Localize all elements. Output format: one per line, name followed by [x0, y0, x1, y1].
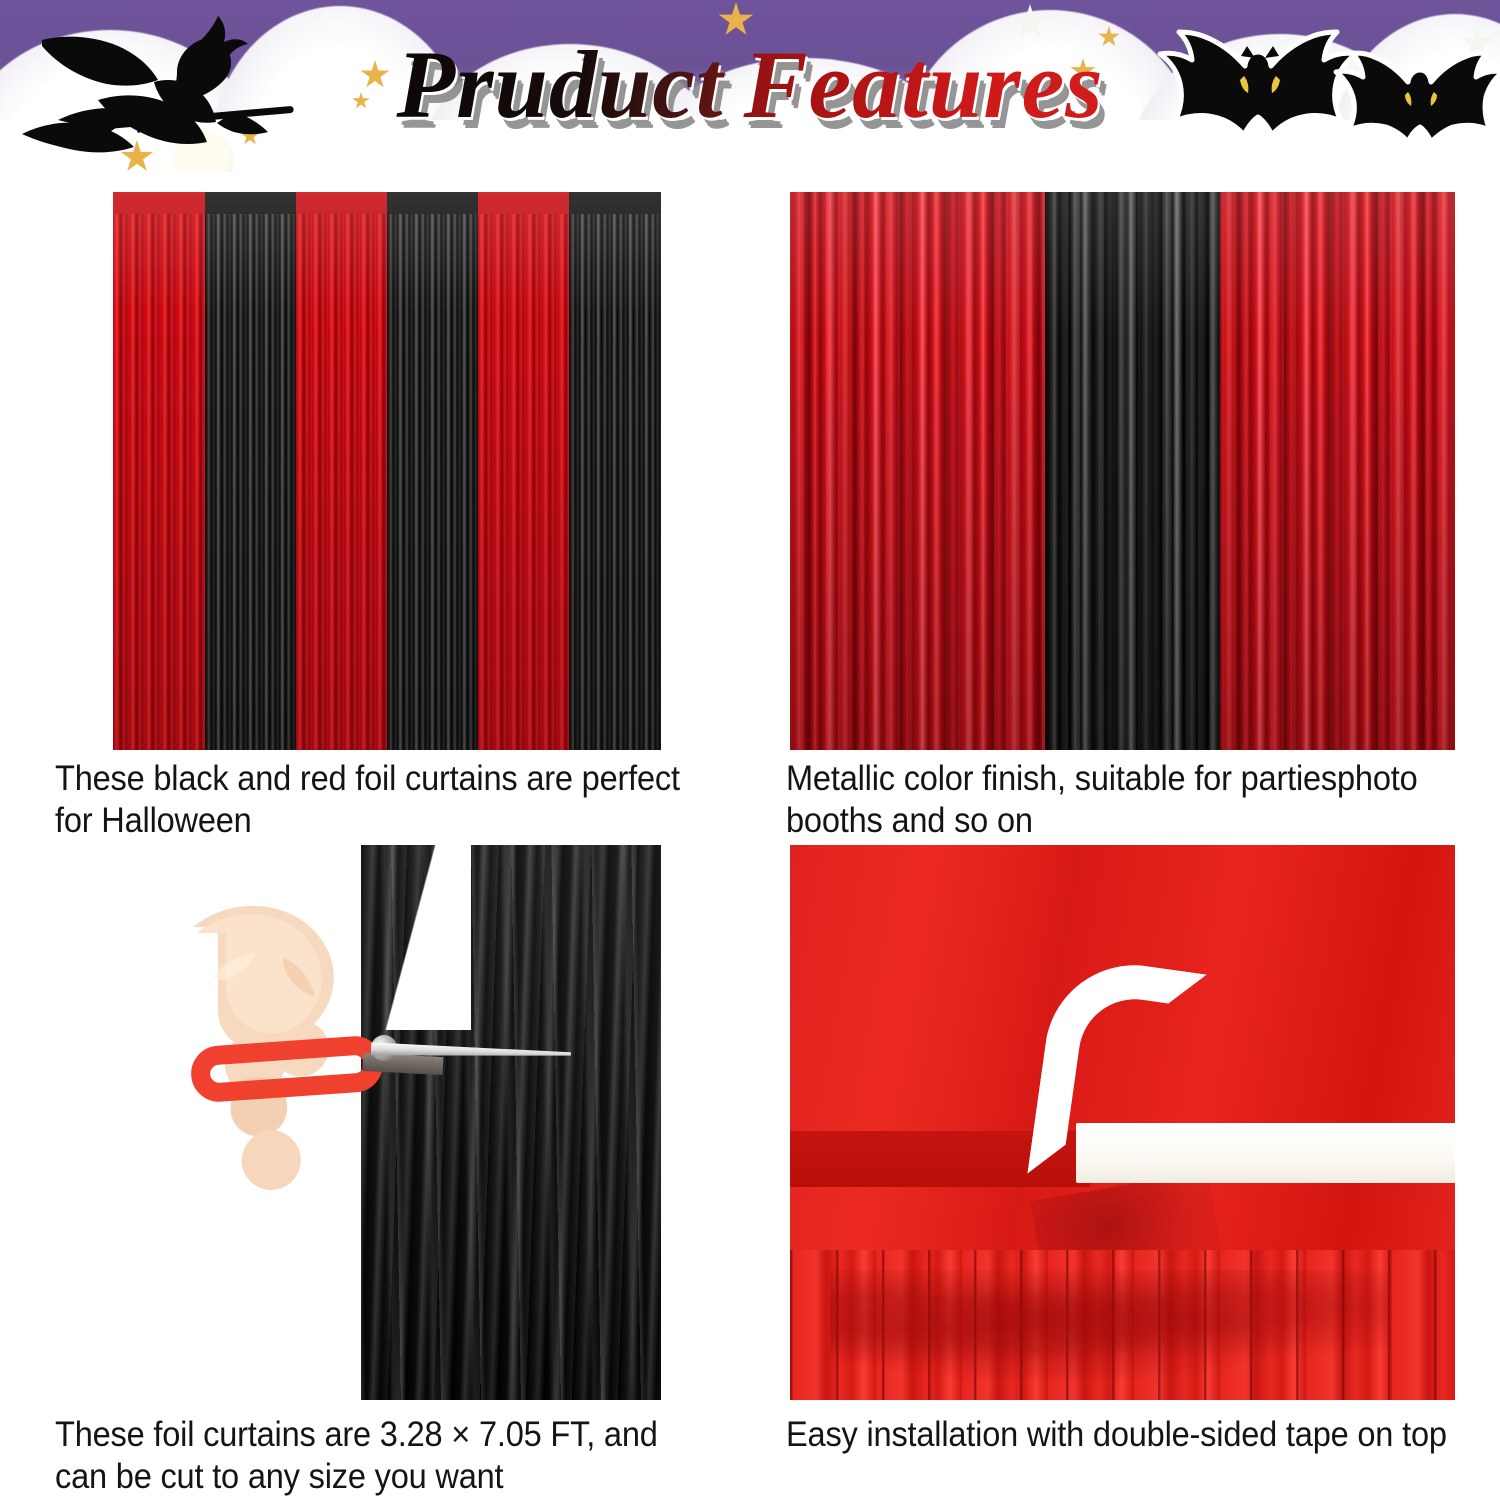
feature-caption-curtain-closeup: Metallic color finish, suitable for part… [786, 758, 1437, 842]
curtain-band-black [387, 192, 478, 750]
feature-image-tape-detail [790, 845, 1455, 1400]
foil-ripple-highlight [830, 1270, 1390, 1380]
page-title-word-2: Features [730, 31, 1104, 138]
feature-caption-scissors-cut: These foil curtains are 3.28 × 7.05 FT, … [55, 1414, 706, 1498]
page-title-word-1: Pruduct [396, 31, 729, 138]
foil-sheen-overlay [790, 192, 1455, 750]
page-title: PruductFeatures [0, 30, 1500, 140]
header-banner: PruductFeatures [0, 0, 1500, 172]
feature-image-curtain-stripes [113, 192, 661, 750]
feature-caption-curtain-stripes: These black and red foil curtains are pe… [55, 758, 706, 842]
feature-caption-tape-detail: Easy installation with double-sided tape… [786, 1414, 1474, 1456]
feature-image-scissors-cut [185, 845, 661, 1400]
curtain-band-black [205, 192, 296, 750]
curtain-band-red [296, 192, 387, 750]
curtain-band-black [569, 192, 661, 750]
feature-image-curtain-closeup [790, 192, 1455, 750]
curtain-band-red [113, 192, 205, 750]
curtain-band-red [478, 192, 569, 750]
